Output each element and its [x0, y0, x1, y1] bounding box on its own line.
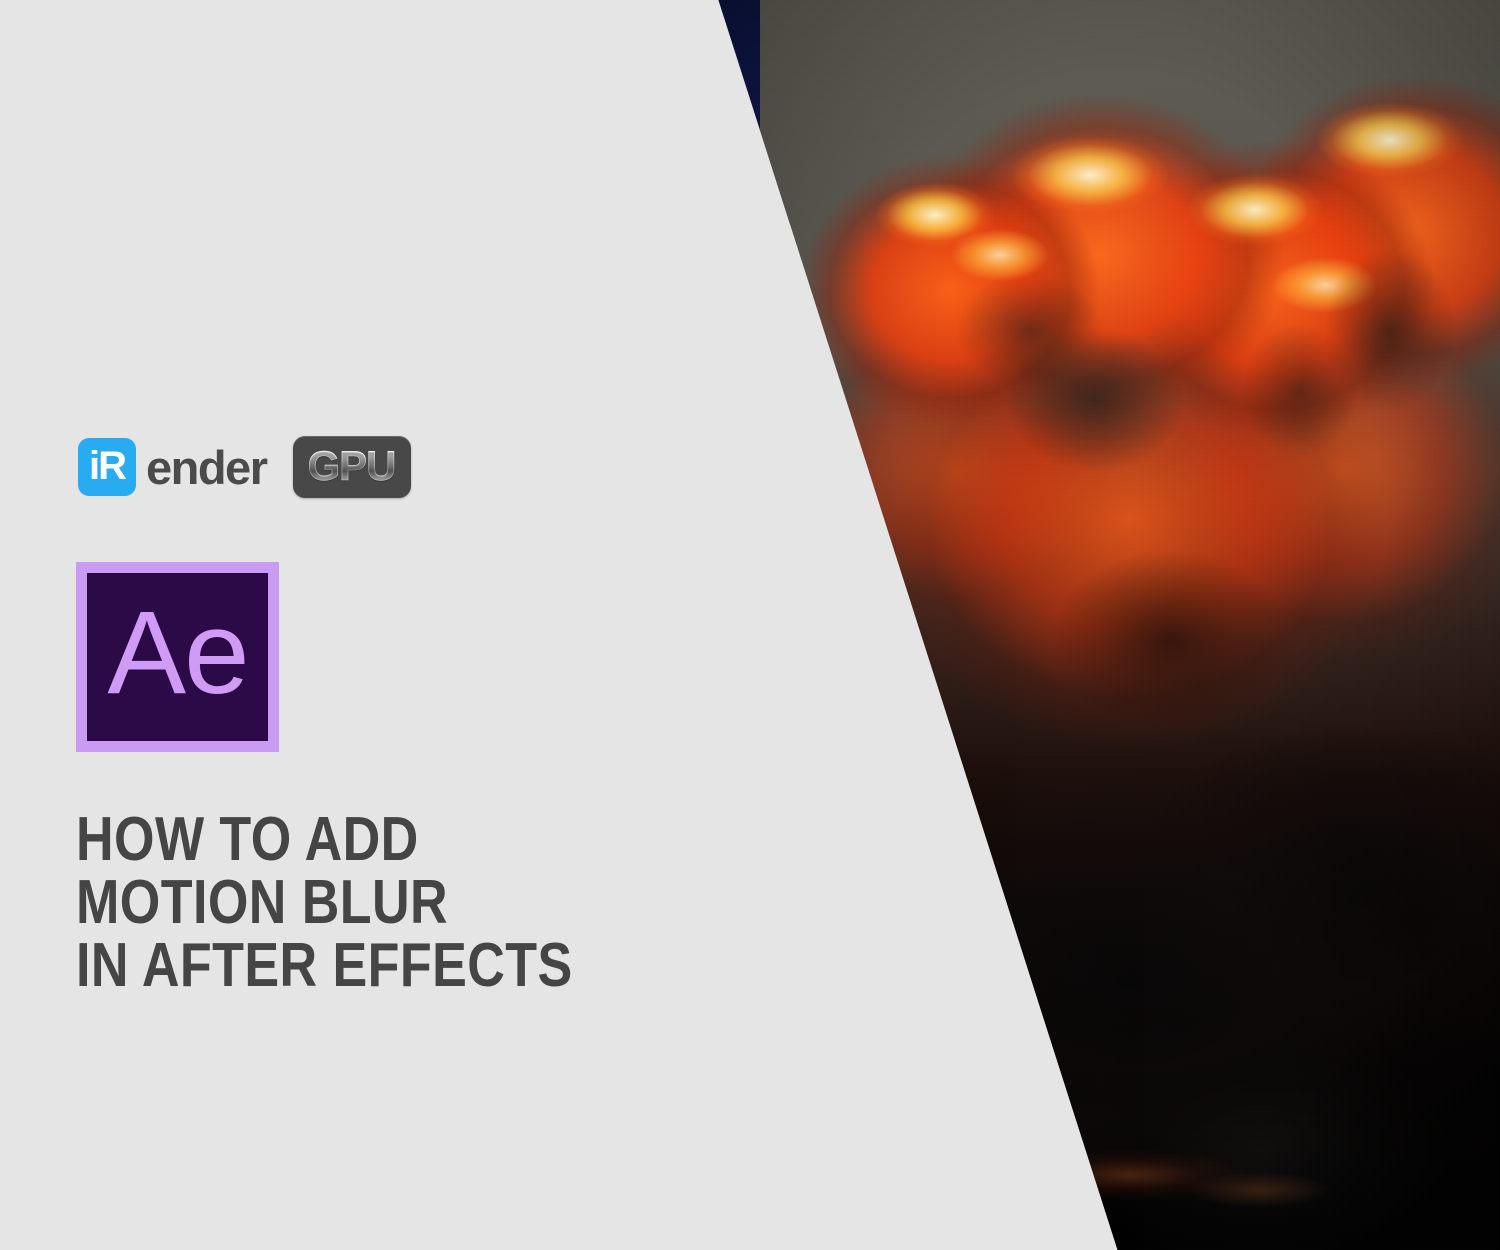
irender-wordmark: ender: [146, 444, 267, 491]
gpu-badge-label: GPU: [308, 445, 396, 487]
irender-mark-label: iR: [89, 446, 125, 486]
page-title: HOW TO ADD MOTION BLUR IN AFTER EFFECTS: [76, 808, 580, 998]
explosion-photo-panel: [700, 0, 1500, 1250]
after-effects-icon: Ae: [76, 562, 279, 752]
photo-grain-overlay: [700, 0, 1500, 1250]
irender-mark-icon: iR: [78, 438, 136, 496]
after-effects-icon-label: Ae: [107, 594, 247, 712]
banner-root: iR ender GPU Ae HOW TO ADD MOTION BLUR I…: [0, 0, 1500, 1250]
left-content-panel: iR ender GPU Ae HOW TO ADD MOTION BLUR I…: [0, 0, 700, 1250]
gpu-badge: GPU: [293, 436, 411, 498]
irender-gpu-logo[interactable]: iR ender GPU: [78, 436, 411, 498]
photo-edge-strip: [700, 0, 790, 1250]
